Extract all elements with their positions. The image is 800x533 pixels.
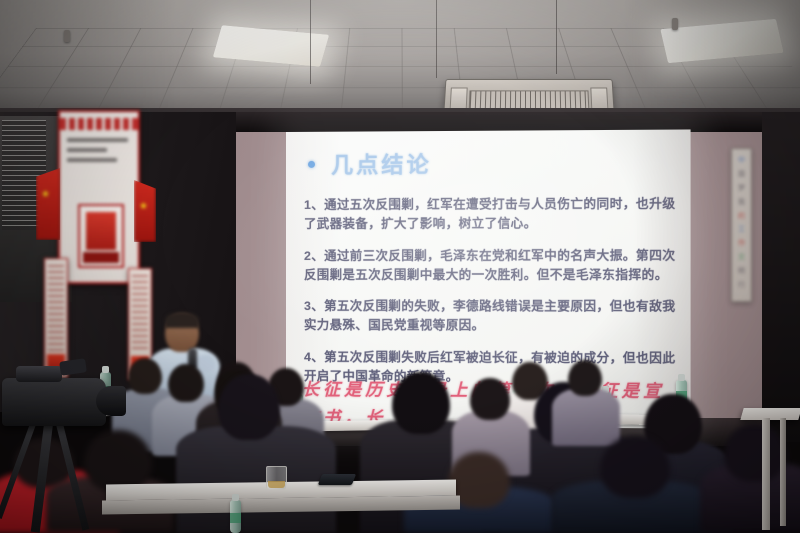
scroll-char: 作 (738, 240, 745, 248)
camera-body (2, 378, 106, 426)
scroll-char: 工 (738, 226, 745, 234)
scroll-char: 行 (738, 282, 745, 290)
lectern-leg (762, 418, 770, 530)
presenter-hair (165, 312, 199, 328)
star-icon: ★ (139, 202, 148, 211)
party-propaganda-poster (58, 110, 140, 284)
bullet-dot-icon (308, 160, 315, 167)
scroll-char: 明 (738, 268, 745, 276)
scroll-char: 我 (738, 199, 745, 207)
vertical-banner (44, 258, 68, 378)
right-wall (762, 112, 800, 442)
slide-paragraph: 2、通过前三次反围剿，毛泽东在党和红军中的名声大振。第四次反围剿是五次反围剿中最… (304, 246, 678, 285)
ceiling (0, 0, 800, 118)
slide-paragraph: 1、通过五次反围剿，红军在遭受打击与人员伤亡的同时，也升级了武器装备，扩大了影响… (304, 195, 678, 234)
lecture-room-photo: ★ ★ 中 国 梦 我 的 工 作 文 明 行 几点结论 1、通过五次反围剿，红… (0, 0, 800, 533)
slide-title: 几点结论 (331, 147, 432, 180)
lectern-leg (780, 418, 786, 526)
party-flag-left: ★ (36, 168, 60, 240)
scroll-char: 中 (738, 157, 745, 165)
slide-body: 1、通过五次反围剿，红军在遭受打击与人员伤亡的同时，也升级了武器装备，扩大了影响… (304, 182, 678, 396)
star-icon: ★ (41, 190, 50, 199)
water-bottle (230, 500, 241, 533)
scroll-char: 国 (738, 171, 745, 179)
party-flag-right: ★ (134, 180, 156, 242)
poster-emblem (78, 204, 124, 268)
slide-title-row: 几点结论 (308, 147, 432, 180)
slide-paragraph: 3、第五次反围剿的失败，李德路线错误是主要原因，但也有敌我实力悬殊、国民党重视等… (304, 297, 678, 336)
vertical-hanging-scroll: 中 国 梦 我 的 工 作 文 明 行 (731, 148, 752, 302)
camera-lens-icon (96, 386, 126, 416)
poster-title-banner (60, 118, 138, 130)
tea-glass (266, 466, 287, 490)
scroll-char: 的 (738, 213, 745, 221)
lectern-top (740, 408, 800, 420)
smartphone-on-desk (318, 474, 356, 485)
scroll-char: 文 (738, 254, 745, 262)
poster-text-lines (67, 138, 131, 168)
camera-hood (16, 366, 62, 382)
scroll-char: 梦 (738, 185, 745, 193)
